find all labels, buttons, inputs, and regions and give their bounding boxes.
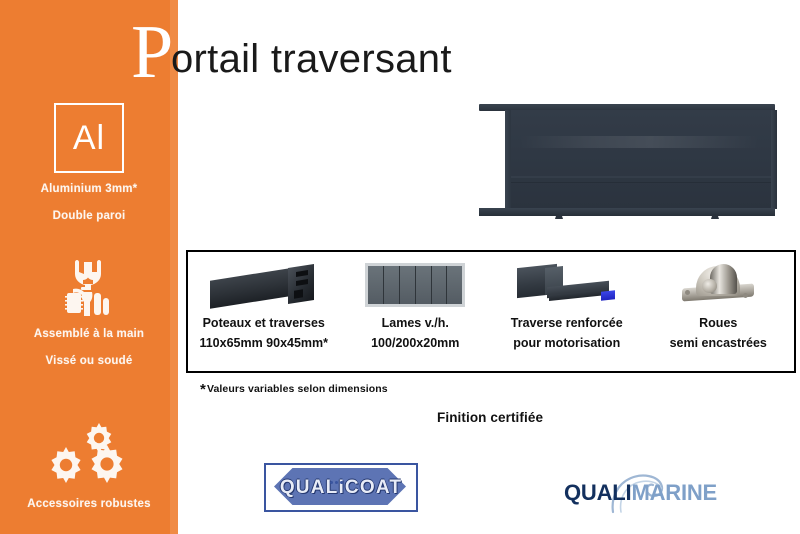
gate-infill-panel — [511, 110, 774, 209]
footnote-text: Valeurs variables selon dimensions — [207, 383, 388, 395]
gate-panel-sheen — [519, 136, 759, 148]
sidebar-feature-aluminium-line1: Aluminium 3mm* — [0, 183, 178, 195]
spec-item-roues-dimensions: semi encastrées — [670, 336, 767, 352]
spec-item-poteaux-label: Poteaux et traverses — [203, 316, 325, 332]
wheel-bearing-icon — [643, 258, 795, 312]
portail-traversant-product-image — [477, 104, 777, 217]
sidebar-feature-assembly: Assemblé à la main Vissé ou soudé — [0, 258, 178, 367]
sidebar-feature-assembly-line2: Vissé ou soudé — [0, 355, 178, 367]
spec-item-traverse: Traverse renforcée pour motorisation — [491, 252, 643, 371]
page-title: ortail traversant — [171, 37, 452, 81]
spec-item-traverse-label: Traverse renforcée — [511, 316, 623, 332]
sidebar-feature-aluminium-line2: Double paroi — [0, 210, 178, 222]
aluminium-al-square-icon: Al — [54, 103, 124, 173]
qualicoat-logo: QUALICOAT — [264, 463, 418, 512]
qualimarine-logo: QUALIMARINE — [559, 466, 719, 510]
finition-certifiee-heading: Finition certifiée — [437, 410, 543, 425]
spec-item-lames-label: Lames v./h. — [382, 316, 449, 332]
sidebar-feature-accessories: Accessoires robustes — [0, 418, 178, 510]
gears-icon — [0, 418, 178, 490]
qualicoat-logo-text: QUALICOAT — [280, 477, 402, 499]
page-title-initial: P — [131, 14, 173, 90]
spec-item-lames: Lames v./h. 100/200x20mm — [340, 252, 492, 371]
sidebar-feature-aluminium: Al Aluminium 3mm* Double paroi — [0, 103, 178, 222]
reinforced-beam-icon — [491, 258, 643, 312]
sidebar-feature-accessories-line1: Accessoires robustes — [0, 498, 178, 510]
spec-item-traverse-dimensions: pour motorisation — [513, 336, 620, 352]
gate-panel-divider — [511, 176, 774, 178]
al-badge-text: Al — [73, 121, 105, 155]
footnote: *Valeurs variables selon dimensions — [200, 381, 388, 398]
hand-wrench-icon — [0, 258, 178, 320]
sidebar-feature-assembly-line1: Assemblé à la main — [0, 328, 178, 340]
specifications-box: Poteaux et traverses 110x65mm 90x45mm* L… — [186, 250, 796, 373]
qualicoat-dots-ornament — [330, 471, 346, 477]
spec-item-poteaux: Poteaux et traverses 110x65mm 90x45mm* — [188, 252, 340, 371]
slide-page: Al Aluminium 3mm* Double paroi — [0, 0, 800, 534]
gate-bottom-rail — [479, 208, 775, 216]
gate-right-post — [771, 110, 777, 209]
qualimarine-text-part2: MARINE — [631, 480, 717, 505]
spec-item-roues: Roues semi encastrées — [643, 252, 795, 371]
slatted-panel-icon — [340, 258, 492, 312]
spec-item-poteaux-dimensions: 110x65mm 90x45mm* — [199, 336, 328, 352]
spec-item-lames-dimensions: 100/200x20mm — [371, 336, 459, 352]
spec-item-roues-label: Roues — [699, 316, 737, 332]
aluminium-profile-icon — [188, 258, 340, 312]
qualimarine-text-part1: QUALI — [564, 480, 631, 505]
qualimarine-logo-text: QUALIMARINE — [564, 480, 717, 506]
footnote-asterisk: * — [200, 381, 206, 398]
